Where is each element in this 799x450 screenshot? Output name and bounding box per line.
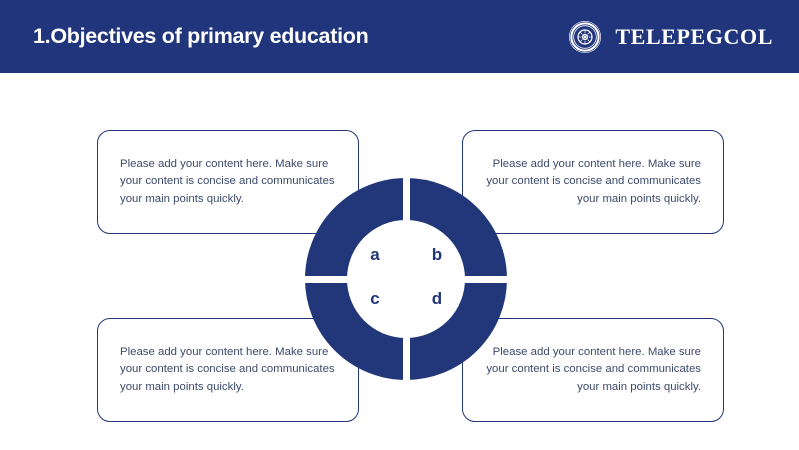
page-title: 1.Objectives of primary education bbox=[33, 24, 368, 49]
circular-seal-icon bbox=[568, 20, 602, 54]
content-card-text: Please add your content here. Make sure … bbox=[485, 344, 701, 396]
quadrant-label-c[interactable]: c bbox=[358, 290, 392, 307]
brand-name: TELEPEGCOL bbox=[615, 24, 773, 50]
quadrant-label-b[interactable]: b bbox=[420, 246, 454, 263]
quadrant-label-d[interactable]: d bbox=[420, 290, 454, 307]
brand-lockup: TELEPEGCOL bbox=[568, 20, 773, 54]
quadrant-donut-diagram: a b c d bbox=[296, 169, 516, 389]
slide-body: Please add your content here. Make sure … bbox=[0, 73, 799, 450]
content-card-text: Please add your content here. Make sure … bbox=[485, 156, 701, 208]
slide-header: 1.Objectives of primary education TELEPE… bbox=[0, 0, 799, 73]
quadrant-label-a[interactable]: a bbox=[358, 246, 392, 263]
donut-vertical-divider bbox=[403, 159, 410, 399]
